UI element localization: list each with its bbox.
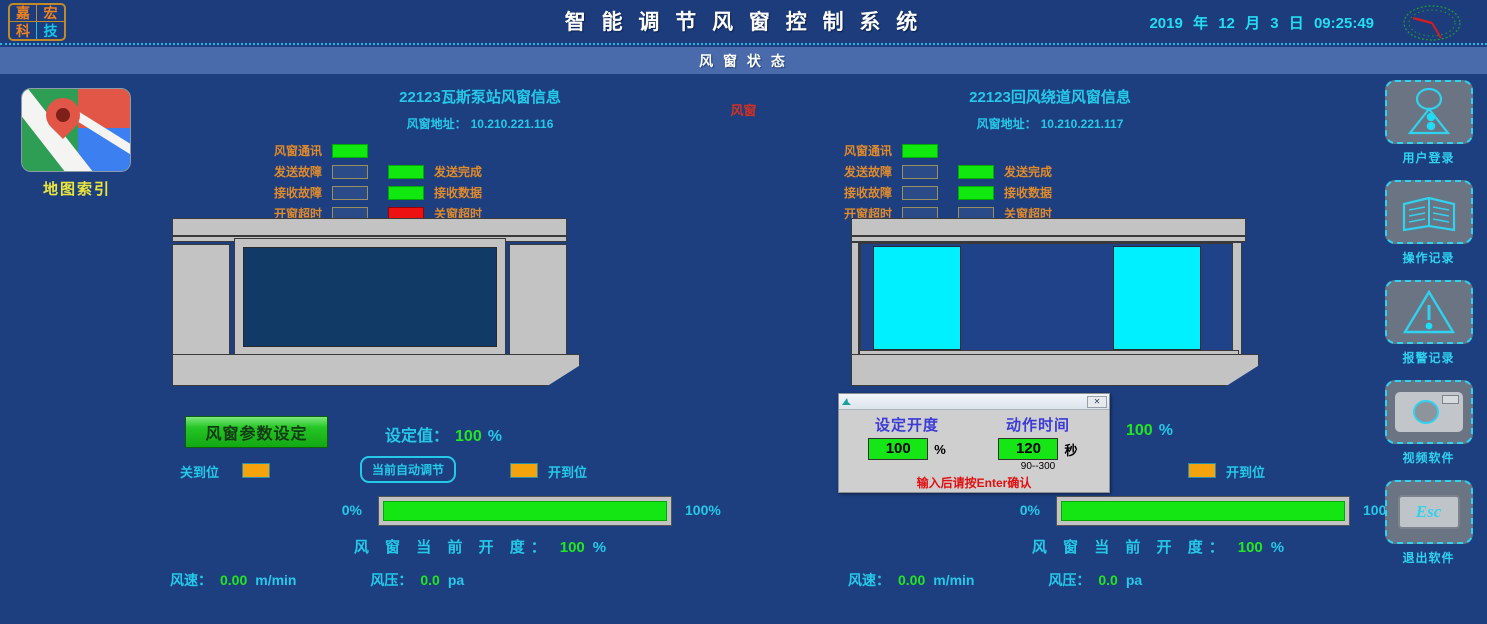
- wind-pressure-unit: pa: [448, 572, 464, 588]
- opened-position-lamp: [510, 463, 538, 478]
- wind-pressure-label: 风压：: [1048, 572, 1090, 588]
- close-icon[interactable]: ✕: [1087, 396, 1107, 408]
- camera-icon[interactable]: [1385, 380, 1473, 444]
- status-lamp: [332, 186, 368, 200]
- map-index-label: 地图索引: [21, 178, 133, 199]
- setpoint-unit: %: [1159, 422, 1173, 439]
- esc-key-icon[interactable]: Esc: [1385, 480, 1473, 544]
- current-opening-display: 风 窗 当 前 开 度：100%: [858, 536, 1458, 557]
- status-row: 发送故障 发送完成: [252, 161, 800, 182]
- setpoint-unit: %: [488, 428, 502, 445]
- opened-position-label: 开到位: [548, 462, 587, 481]
- wind-pressure-value: 0.0: [420, 572, 439, 588]
- sensor-readings: 风速：0.00m/min 风压：0.0pa: [170, 570, 780, 590]
- wind-pressure-value: 0.0: [1098, 572, 1117, 588]
- address-value: 10.210.221.117: [1041, 117, 1124, 131]
- status-label: 风窗通讯: [252, 142, 322, 159]
- dialog-body: 设定开度 100 % 动作时间 120 秒 90--300 输入后请按Enter…: [839, 410, 1109, 494]
- status-row: 接收故障 接收数据: [252, 182, 800, 203]
- current-opening-display: 风 窗 当 前 开 度：100%: [180, 536, 780, 557]
- user-icon[interactable]: [1385, 80, 1473, 144]
- status-label-secondary: 发送完成: [434, 163, 482, 180]
- wind-speed-label: 风速：: [848, 572, 890, 588]
- wind-speed-unit: m/min: [255, 572, 296, 588]
- analog-clock-icon: [1399, 3, 1465, 43]
- sidebar-label-alarm-record: 报警记录: [1370, 349, 1487, 366]
- sidebar-label-user-login: 用户登录: [1370, 149, 1487, 166]
- damper-opening-left: [243, 247, 497, 347]
- current-opening-unit: %: [1271, 539, 1284, 556]
- bar-min-label: 0%: [1020, 502, 1040, 518]
- status-indicator-list: 风窗通讯 发送故障 发送完成 接收故障 接收数据 开窗超时 关窗超时: [730, 140, 1370, 224]
- date-month: 12: [1218, 15, 1235, 32]
- setpoint-label: 设定值：: [385, 428, 449, 445]
- map-pin-icon[interactable]: [21, 88, 131, 172]
- station-panel-left: 22123瓦斯泵站风窗信息 风窗地址：10.210.221.116 风窗通讯 发…: [160, 86, 800, 224]
- opening-progress-bar: [378, 496, 672, 526]
- bar-min-label: 0%: [342, 502, 362, 518]
- status-lamp-secondary: [388, 165, 424, 179]
- book-icon[interactable]: [1385, 180, 1473, 244]
- wind-speed-label: 风速：: [170, 572, 212, 588]
- sidebar-label-video-software: 视频软件: [1370, 449, 1487, 466]
- parameter-settings-dialog: ✕ 设定开度 100 % 动作时间 120 秒 90--300 输入后请按Ent…: [838, 393, 1110, 493]
- status-lamp: [902, 165, 938, 179]
- dialog-instruction-note: 输入后请按Enter确认: [839, 474, 1109, 491]
- status-label: 发送故障: [822, 163, 892, 180]
- status-row: 风窗通讯: [252, 140, 800, 161]
- closed-position-lamp: [242, 463, 270, 478]
- sidebar-item-operation-record[interactable]: 操作记录: [1370, 180, 1487, 266]
- action-time-unit: 秒: [1064, 440, 1077, 459]
- current-opening-label: 风 窗 当 前 开 度：: [1032, 539, 1230, 556]
- dialog-titlebar[interactable]: ✕: [839, 394, 1109, 410]
- auto-mode-badge[interactable]: 当前自动调节: [360, 456, 456, 483]
- status-row: 发送故障 发送完成: [822, 161, 1370, 182]
- damper-door-right: [1113, 246, 1201, 350]
- sidebar-item-alarm-record[interactable]: 报警记录: [1370, 280, 1487, 366]
- opening-setting-group: 设定开度 100 %: [853, 414, 961, 460]
- station-panel-right: 22123回风绕道风窗信息 风窗地址：10.210.221.117 风窗通讯 发…: [730, 86, 1370, 224]
- current-opening-unit: %: [593, 539, 606, 556]
- position-indicator-row: 关到位 当前自动调节 开到位: [180, 459, 760, 481]
- datetime-display: 2019 年 12 月 3 日 09:25:49: [1146, 12, 1377, 33]
- setpoint-value: 100: [455, 428, 482, 445]
- setpoint-display: 设定值：100%: [385, 422, 502, 446]
- clock-time: 09:25:49: [1314, 15, 1374, 32]
- map-index-button[interactable]: 地图索引: [21, 88, 133, 199]
- closed-position-label: 关到位: [180, 462, 219, 481]
- station-address: 风窗地址：10.210.221.117: [730, 115, 1370, 132]
- status-label: 接收故障: [252, 184, 322, 201]
- date-month-unit: 月: [1245, 15, 1260, 32]
- current-opening-value: 100: [560, 539, 585, 556]
- wind-speed-unit: m/min: [933, 572, 974, 588]
- damper-door-left: [873, 246, 961, 350]
- status-indicator-list: 风窗通讯 发送故障 发送完成 接收故障 接收数据 开窗超时 关窗超时: [160, 140, 800, 224]
- wind-speed-value: 0.00: [220, 572, 247, 588]
- action-time-range-hint: 90--300: [979, 461, 1097, 472]
- status-lamp-secondary: [388, 186, 424, 200]
- opening-setting-input[interactable]: 100: [868, 438, 928, 460]
- status-label-secondary: 发送完成: [1004, 163, 1052, 180]
- date-year: 2019: [1149, 15, 1182, 32]
- station-address: 风窗地址：10.210.221.116: [160, 115, 800, 132]
- status-row: 风窗通讯: [822, 140, 1370, 161]
- address-label: 风窗地址：: [407, 117, 467, 131]
- status-label: 发送故障: [252, 163, 322, 180]
- station-title: 22123回风绕道风窗信息: [730, 86, 1370, 107]
- damper-graphic-right: [851, 218, 1266, 388]
- opening-progress-fill: [383, 501, 667, 521]
- sidebar-item-user-login[interactable]: 用户登录: [1370, 80, 1487, 166]
- opening-progress-bar: [1056, 496, 1350, 526]
- action-time-label: 动作时间: [979, 414, 1097, 435]
- subheader-title: 风 窗 状 态: [699, 51, 788, 71]
- date-day-unit: 日: [1289, 15, 1304, 32]
- sidebar-item-video-software[interactable]: 视频软件: [1370, 380, 1487, 466]
- date-day: 3: [1270, 15, 1278, 32]
- current-opening-label: 风 窗 当 前 开 度：: [354, 539, 552, 556]
- setpoint-value: 100: [1126, 422, 1153, 439]
- date-year-unit: 年: [1193, 15, 1208, 32]
- status-label-secondary: 接收数据: [434, 184, 482, 201]
- app-icon: [841, 396, 853, 408]
- station-title: 22123瓦斯泵站风窗信息: [160, 86, 800, 107]
- address-label: 风窗地址：: [977, 117, 1037, 131]
- sidebar-label-operation-record: 操作记录: [1370, 249, 1487, 266]
- current-opening-value: 100: [1238, 539, 1263, 556]
- status-label-secondary: 接收数据: [1004, 184, 1052, 201]
- action-time-input[interactable]: 120: [998, 438, 1058, 460]
- sidebar-item-exit-software[interactable]: Esc 退出软件: [1370, 480, 1487, 566]
- wind-pressure-label: 风压：: [370, 572, 412, 588]
- status-lamp-secondary: [958, 165, 994, 179]
- status-label: 风窗通讯: [822, 142, 892, 159]
- status-label: 接收故障: [822, 184, 892, 201]
- sidebar-label-exit-software: 退出软件: [1370, 549, 1487, 566]
- damper-graphic-left: [172, 218, 587, 388]
- application-window: 嘉 宏 科 技 智 能 调 节 风 窗 控 制 系 统 2019 年 12 月 …: [0, 0, 1487, 624]
- wind-pressure-unit: pa: [1126, 572, 1142, 588]
- opening-progress-row: 0% 100%: [858, 496, 1458, 526]
- top-header-bar: 嘉 宏 科 技 智 能 调 节 风 窗 控 制 系 统 2019 年 12 月 …: [0, 0, 1487, 45]
- wind-speed-value: 0.00: [898, 572, 925, 588]
- bar-max-label: 100%: [685, 502, 721, 518]
- setpoint-display: 100%: [1120, 422, 1173, 440]
- warning-triangle-icon[interactable]: [1385, 280, 1473, 344]
- address-value: 10.210.221.116: [471, 117, 554, 131]
- status-row: 接收故障 接收数据: [822, 182, 1370, 203]
- action-time-group: 动作时间 120 秒 90--300: [979, 414, 1097, 472]
- status-lamp: [332, 165, 368, 179]
- status-lamp: [332, 144, 368, 158]
- right-sidebar: 用户登录 操作记录: [1370, 80, 1487, 580]
- opened-position-label: 开到位: [1226, 462, 1265, 481]
- opened-position-lamp: [1188, 463, 1216, 478]
- opening-progress-row: 0% 100%: [180, 496, 780, 526]
- opening-setting-label: 设定开度: [853, 414, 961, 435]
- opening-progress-fill: [1061, 501, 1345, 521]
- status-lamp: [902, 144, 938, 158]
- status-lamp-secondary: [958, 186, 994, 200]
- opening-setting-unit: %: [934, 442, 946, 457]
- esc-key-text: Esc: [1398, 495, 1460, 529]
- status-lamp: [902, 186, 938, 200]
- damper-param-set-button[interactable]: 风窗参数设定: [185, 416, 328, 448]
- status-subheader-bar: 风 窗 状 态: [0, 47, 1487, 74]
- sensor-readings: 风速：0.00m/min 风压：0.0pa: [848, 570, 1458, 590]
